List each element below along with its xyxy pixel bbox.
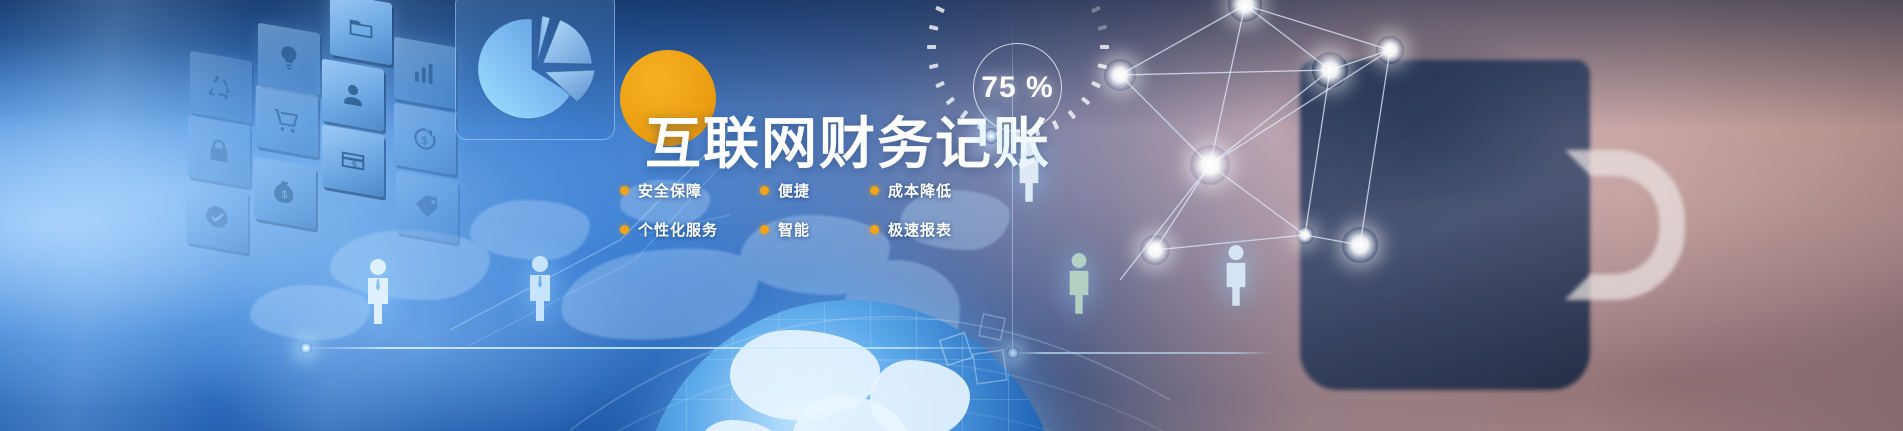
svg-text:$: $ — [282, 189, 288, 201]
cube-bar-chart-icon — [394, 37, 456, 110]
bullet-dot-icon — [760, 186, 769, 195]
gauge-tick — [927, 45, 936, 49]
feature-label: 智能 — [778, 219, 810, 240]
feature-item-convenient: 便捷 — [760, 180, 870, 201]
decor-squares — [935, 300, 1045, 390]
bullet-dot-icon — [870, 186, 879, 195]
clock-check-icon — [202, 199, 232, 234]
cube-lock-icon — [188, 115, 250, 188]
folder-icon — [346, 11, 376, 46]
feature-item-cost-reduction: 成本降低 — [870, 180, 952, 201]
light-bar — [1012, 352, 1272, 354]
user-icon — [338, 77, 368, 112]
network-node — [1376, 36, 1404, 64]
cube-shopping-cart-icon — [256, 85, 318, 158]
person-icon — [1065, 252, 1093, 314]
feature-row: 安全保障 便捷 成本降低 — [620, 180, 1000, 201]
cube-clock-check-icon — [186, 181, 248, 254]
gauge-value: 75 % — [965, 35, 1070, 140]
light-bar-cap-icon — [300, 342, 312, 354]
bullet-dot-icon — [760, 225, 769, 234]
feature-item-personalized: 个性化服务 — [620, 219, 760, 240]
feature-item-security: 安全保障 — [620, 180, 760, 201]
person-pictogram — [1015, 140, 1043, 202]
feature-label: 安全保障 — [638, 180, 702, 201]
feature-row: 个性化服务 智能 极速报表 — [620, 219, 1000, 240]
cube-credit-card-icon: $ — [322, 125, 384, 198]
cube-user-icon — [322, 59, 384, 132]
bullet-dot-icon — [870, 225, 879, 234]
lightbulb-icon — [274, 41, 304, 76]
gauge-spark-icon — [983, 128, 999, 144]
cube-money-bag-icon: $ — [254, 157, 316, 230]
network-node — [1190, 145, 1230, 185]
pie-chart — [470, 6, 605, 131]
svg-text:$: $ — [352, 159, 357, 170]
icon-cube-stack: $ $ $ — [150, 0, 450, 250]
feature-label: 便捷 — [778, 180, 810, 201]
cube-folder-icon — [330, 0, 392, 65]
cube-recycle-icon — [190, 51, 252, 124]
person-pictogram — [1065, 252, 1093, 314]
feature-label: 成本降低 — [888, 180, 952, 201]
person-pictogram — [525, 255, 555, 321]
network-node — [1140, 235, 1170, 265]
network-node — [1104, 59, 1136, 91]
bar-chart-icon — [410, 55, 440, 90]
money-bag-icon: $ — [270, 175, 300, 210]
progress-gauge: 75 % — [965, 35, 1070, 140]
feature-list: 安全保障 便捷 成本降低 个性化服务 智能 极速报表 — [620, 180, 1000, 258]
promo-banner: $ $ $ — [0, 0, 1903, 431]
light-bar — [305, 347, 1005, 349]
recycle-icon — [206, 69, 236, 104]
pie-chart-svg — [470, 6, 605, 131]
bullet-dot-icon — [620, 186, 629, 195]
pie-slice-upper-right — [543, 20, 592, 64]
feature-item-intelligent: 智能 — [760, 219, 870, 240]
person-pictogram — [1222, 244, 1250, 306]
person-icon — [363, 258, 393, 324]
shopping-cart-icon — [272, 103, 302, 138]
node-network-nodes — [1060, 0, 1560, 310]
bullet-dot-icon — [620, 225, 629, 234]
person-icon — [1222, 244, 1250, 306]
person-icon — [525, 255, 555, 321]
person-icon — [1015, 140, 1043, 202]
network-node — [1296, 226, 1314, 244]
network-node — [1312, 52, 1348, 88]
credit-card-icon: $ — [338, 143, 368, 178]
cube-lightbulb-icon — [258, 23, 320, 96]
feature-label: 个性化服务 — [638, 219, 718, 240]
feature-label: 极速报表 — [888, 219, 952, 240]
lock-icon — [204, 133, 234, 168]
svg-text:$: $ — [421, 135, 428, 148]
network-node — [1228, 0, 1262, 22]
feature-item-fast-reports: 极速报表 — [870, 219, 952, 240]
person-pictogram — [363, 258, 393, 324]
network-node — [1342, 227, 1378, 263]
